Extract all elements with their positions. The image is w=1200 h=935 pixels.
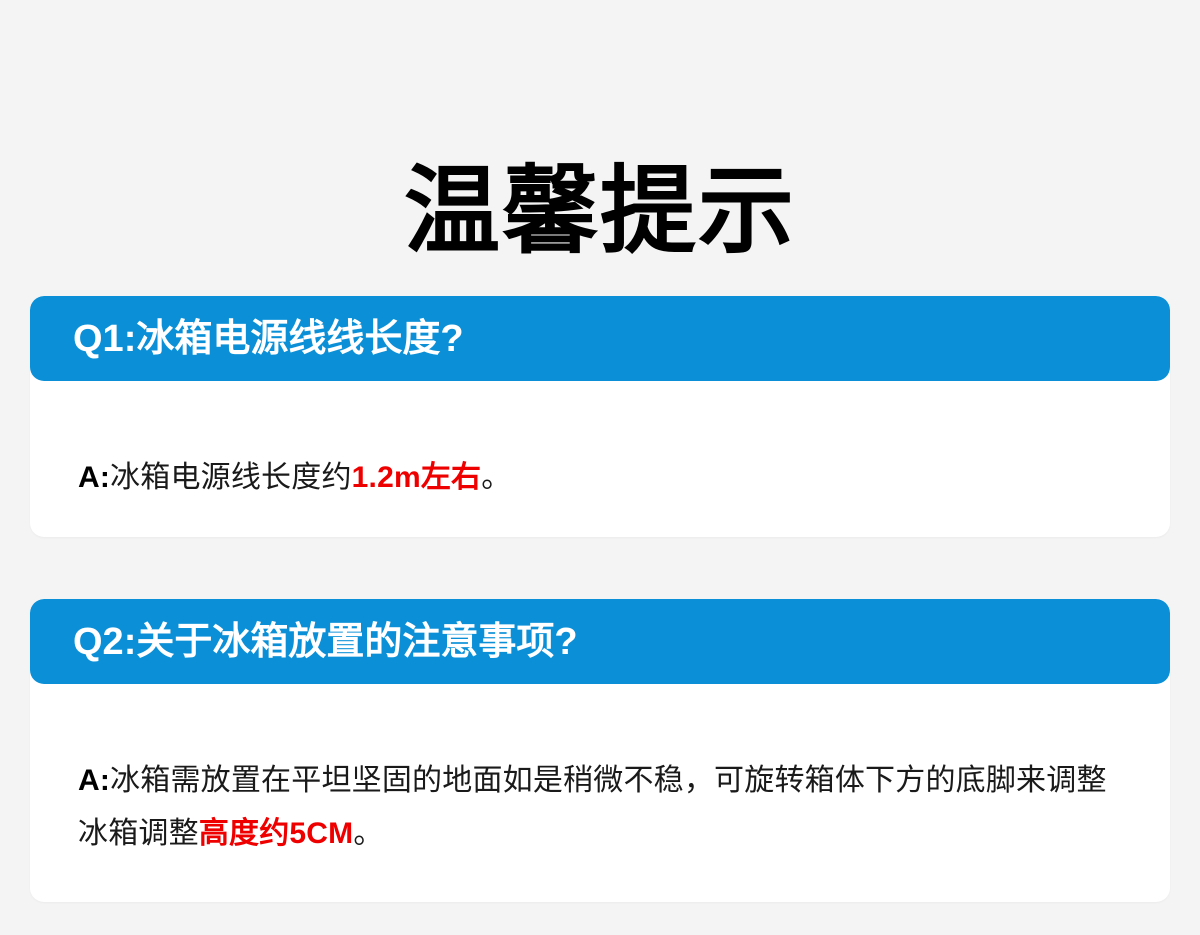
answer-text-after: 。 (481, 461, 511, 494)
faq-answer-text: A:冰箱电源线长度约1.2m左右。 (78, 451, 1130, 504)
faq-answer: A:冰箱电源线长度约1.2m左右。 (30, 381, 1170, 537)
faq-question-header[interactable]: Q1:冰箱电源线线长度? (30, 296, 1170, 381)
answer-highlight: 1.2m左右 (352, 461, 482, 494)
answer-text-before: 冰箱电源线长度约 (110, 461, 352, 494)
answer-highlight: 高度约5CM (199, 817, 354, 850)
tips-page: 温馨提示 Q1:冰箱电源线线长度? A:冰箱电源线长度约1.2m左右。 Q2:关… (0, 0, 1200, 935)
answer-text-after: 。 (353, 817, 383, 850)
faq-item: Q1:冰箱电源线线长度? A:冰箱电源线长度约1.2m左右。 (30, 296, 1170, 537)
faq-question-text: Q2:关于冰箱放置的注意事项? (73, 623, 578, 661)
faq-question-header[interactable]: Q2:关于冰箱放置的注意事项? (30, 599, 1170, 684)
faq-item: Q2:关于冰箱放置的注意事项? A:冰箱需放置在平坦坚固的地面如是稍微不稳，可旋… (30, 599, 1170, 902)
faq-answer: A:冰箱需放置在平坦坚固的地面如是稍微不稳，可旋转箱体下方的底脚来调整冰箱调整高… (30, 684, 1170, 902)
faq-list: Q1:冰箱电源线线长度? A:冰箱电源线长度约1.2m左右。 Q2:关于冰箱放置… (30, 296, 1170, 902)
faq-answer-text: A:冰箱需放置在平坦坚固的地面如是稍微不稳，可旋转箱体下方的底脚来调整冰箱调整高… (78, 754, 1130, 860)
faq-question-text: Q1:冰箱电源线线长度? (73, 320, 464, 358)
page-title: 温馨提示 (0, 156, 1200, 268)
answer-label: A: (78, 461, 110, 494)
answer-label: A: (78, 764, 110, 797)
